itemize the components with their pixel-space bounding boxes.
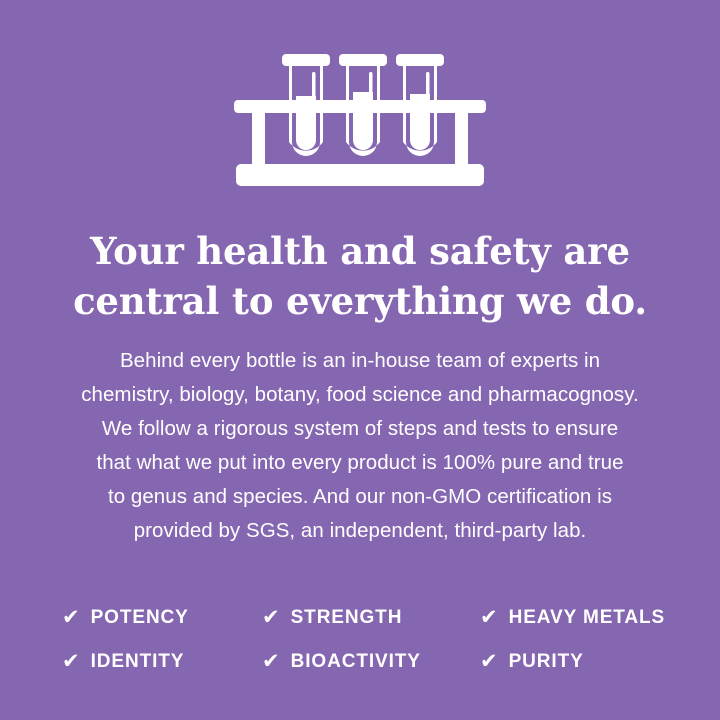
checklist-item-bioactivity: ✔ BIOACTIVITY: [262, 651, 480, 673]
checklist-item-strength: ✔ STRENGTH: [262, 607, 480, 629]
page-title: Your health and safety are central to ev…: [40, 226, 680, 326]
check-icon: ✔: [480, 607, 498, 628]
checklist-item-purity: ✔ PURITY: [480, 651, 672, 673]
checklist-label: HEAVY METALS: [509, 607, 665, 629]
headline-line-1: Your health and safety are: [40, 226, 680, 276]
body-line-1: Behind every bottle is an in-house team …: [50, 344, 670, 378]
quality-promise-card: Your health and safety are central to ev…: [0, 0, 720, 720]
body-paragraph: Behind every bottle is an in-house team …: [50, 344, 670, 548]
body-line-6: provided by SGS, an independent, third-p…: [50, 514, 670, 548]
check-icon: ✔: [262, 651, 280, 672]
checklist-label: IDENTITY: [91, 651, 185, 673]
checklist-item-identity: ✔ IDENTITY: [62, 651, 262, 673]
body-line-5: to genus and species. And our non-GMO ce…: [50, 480, 670, 514]
checklist-label: POTENCY: [91, 607, 189, 629]
checklist-label: STRENGTH: [291, 607, 403, 629]
check-icon: ✔: [262, 607, 280, 628]
checklist-item-heavy-metals: ✔ HEAVY METALS: [480, 607, 672, 629]
check-icon: ✔: [62, 651, 80, 672]
check-icon: ✔: [480, 651, 498, 672]
test-tube-rack-icon: [230, 44, 490, 194]
checklist-label: BIOACTIVITY: [291, 651, 421, 673]
body-line-2: chemistry, biology, botany, food science…: [50, 378, 670, 412]
quality-checklist: ✔ POTENCY ✔ STRENGTH ✔ HEAVY METALS ✔ ID…: [62, 596, 672, 684]
body-line-3: We follow a rigorous system of steps and…: [50, 412, 670, 446]
body-line-4: that what we put into every product is 1…: [50, 446, 670, 480]
checklist-label: PURITY: [509, 651, 584, 673]
checklist-item-potency: ✔ POTENCY: [62, 607, 262, 629]
headline-line-2: central to everything we do.: [40, 276, 680, 326]
check-icon: ✔: [62, 607, 80, 628]
